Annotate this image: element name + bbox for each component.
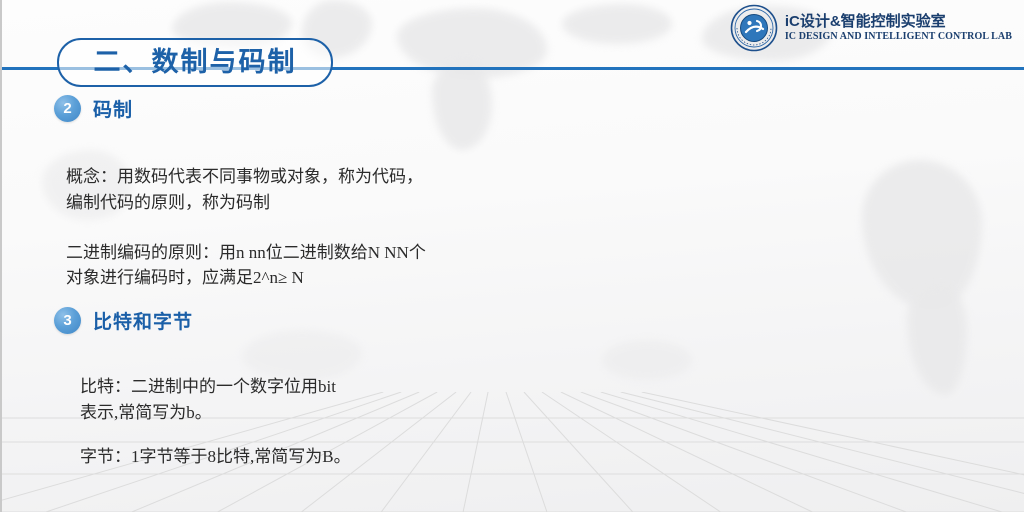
- paragraph-binary-rule: 二进制编码的原则：用n nn位二进制数给N NN个 对象进行编码时，应满足2^n…: [66, 240, 1024, 292]
- paragraph-bit: 比特：二进制中的一个数字位用bit 表示,常简写为b。: [80, 374, 1024, 426]
- spacer: [2, 291, 1024, 307]
- spacer: [2, 216, 1024, 240]
- section-number-badge: 2: [54, 95, 81, 122]
- section-title-text: 码制: [93, 95, 133, 122]
- paragraph-block: 概念：用数码代表不同事物或对象，称为代码， 编制代码的原则，称为码制: [2, 164, 1024, 216]
- section-number-badge: 3: [54, 307, 81, 334]
- slide-title-pill: 二、数制与码制: [57, 38, 333, 87]
- lab-name-en: IC DESIGN AND INTELLIGENT CONTROL LAB: [785, 32, 1012, 43]
- slide-body: 2 码制 概念：用数码代表不同事物或对象，称为代码， 编制代码的原则，称为码制 …: [2, 95, 1024, 470]
- paragraph-block: 比特：二进制中的一个数字位用bit 表示,常简写为b。: [2, 374, 1024, 426]
- paragraph-block: 二进制编码的原则：用n nn位二进制数给N NN个 对象进行编码时，应满足2^n…: [2, 240, 1024, 292]
- ic-lab-seal-icon: [730, 4, 778, 52]
- paragraph-concept: 概念：用数码代表不同事物或对象，称为代码， 编制代码的原则，称为码制: [66, 164, 1024, 216]
- page-title: 二、数制与码制: [94, 49, 297, 76]
- section-title-text: 比特和字节: [93, 307, 193, 334]
- spacer: [2, 122, 1024, 164]
- spacer: [2, 334, 1024, 374]
- section-heading-bit-byte: 3 比特和字节: [2, 307, 1024, 334]
- world-map-watermark-shape: [562, 4, 672, 44]
- presentation-slide: 二、数制与码制 iC设计&智能控制实验室 IC DESIGN AND INTEL…: [0, 0, 1024, 512]
- paragraph-block: 字节：1字节等于8比特,常简写为B。: [2, 444, 1024, 470]
- lab-logo: iC设计&智能控制实验室 IC DESIGN AND INTELLIGENT C…: [730, 4, 1012, 52]
- lab-name-cn: iC设计&智能控制实验室: [785, 14, 1012, 30]
- paragraph-byte: 字节：1字节等于8比特,常简写为B。: [80, 444, 1024, 470]
- section-heading-codes: 2 码制: [2, 95, 1024, 122]
- lab-name-block: iC设计&智能控制实验室 IC DESIGN AND INTELLIGENT C…: [785, 14, 1012, 42]
- spacer: [2, 426, 1024, 444]
